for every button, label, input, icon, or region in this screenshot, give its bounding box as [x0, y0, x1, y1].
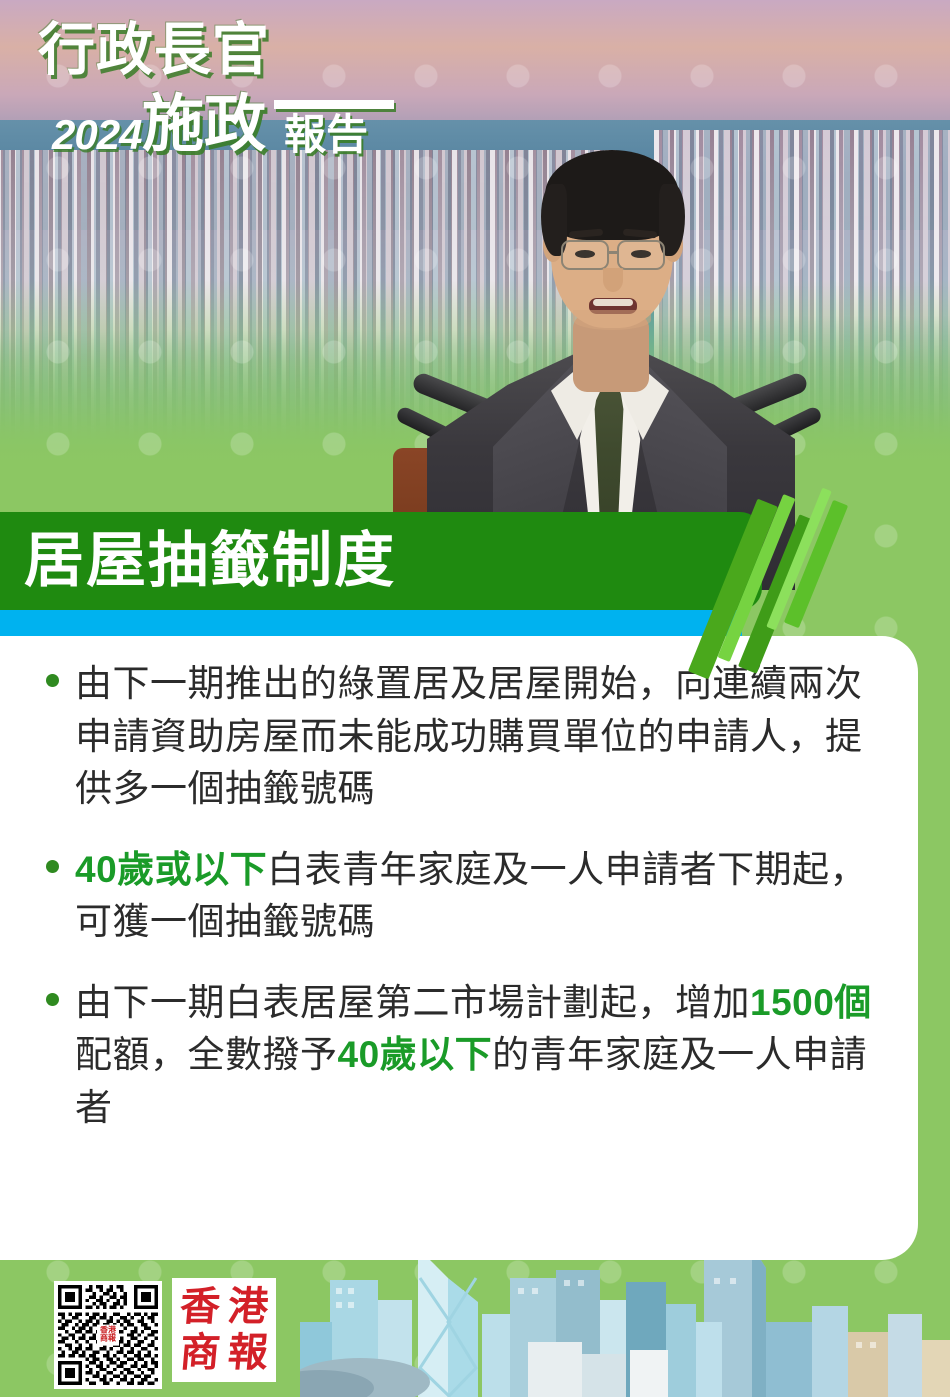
- cyan-accent-bar: [0, 610, 742, 636]
- speaker-chin: [573, 310, 651, 330]
- bullet-list: 由下一期推出的綠置居及居屋開始，向連續兩次申請資助房屋而未能成功購買單位的申請人…: [46, 658, 894, 1162]
- wordmark-rule: [274, 100, 394, 109]
- highlight-text: 1500個: [750, 982, 872, 1023]
- policy-address-wordmark: 行政長官 2024 施政 報告: [34, 22, 374, 174]
- content-card: 由下一期推出的綠置居及居屋開始，向連續兩次申請資助房屋而未能成功購買單位的申請人…: [0, 636, 918, 1260]
- wordmark-line-1: 行政長官: [38, 22, 270, 79]
- qr-code-icon[interactable]: 香港 商報: [54, 1281, 162, 1389]
- body-text: 由下一期白表居屋第二市場計劃起，增加: [75, 982, 750, 1023]
- wordmark-year: 2024: [52, 114, 141, 156]
- speaker-glasses-right: [617, 240, 665, 270]
- bullet-dot-icon: [46, 993, 59, 1006]
- speaker-nose: [603, 268, 623, 292]
- highlight-text: 40歲或以下: [75, 849, 267, 890]
- brand-char: 港: [222, 1284, 274, 1330]
- brand-char: 商: [174, 1330, 226, 1376]
- bullet-dot-icon: [46, 674, 59, 687]
- brand-stamp-characters: 香港商報: [176, 1284, 272, 1376]
- wordmark-line-2: 施政: [142, 94, 266, 156]
- bullet-text: 40歲或以下白表青年家庭及一人申請者下期起，可獲一個抽籤號碼: [75, 844, 894, 949]
- highlight-text: 40歲以下: [338, 1034, 493, 1075]
- wordmark-line-3: 報告: [284, 114, 368, 156]
- speaker-teeth: [593, 299, 633, 306]
- brand-char: 香: [174, 1284, 226, 1330]
- speaker-glasses-left: [561, 240, 609, 270]
- bullet-text: 由下一期白表居屋第二市場計劃起，增加1500個配額，全數撥予40歲以下的青年家庭…: [75, 977, 894, 1135]
- diagonal-stripes-decoration: [700, 486, 870, 686]
- speaker-glasses-bridge: [608, 251, 619, 254]
- brand-char: 報: [222, 1330, 274, 1376]
- qr-center-brand: 香港 商報: [97, 1325, 119, 1346]
- section-title: 居屋抽籤制度: [24, 526, 396, 595]
- body-text: 配額，全數撥予: [75, 1034, 338, 1075]
- bullet-dot-icon: [46, 860, 59, 873]
- infographic-poster: 行政長官 2024 施政 報告: [0, 0, 950, 1397]
- brand-stamp-icon: 香港商報: [172, 1278, 276, 1382]
- bullet-item: 40歲或以下白表青年家庭及一人申請者下期起，可獲一個抽籤號碼: [46, 844, 894, 949]
- section-title-bar: 居屋抽籤制度: [0, 512, 762, 610]
- bullet-item: 由下一期白表居屋第二市場計劃起，增加1500個配額，全數撥予40歲以下的青年家庭…: [46, 977, 894, 1135]
